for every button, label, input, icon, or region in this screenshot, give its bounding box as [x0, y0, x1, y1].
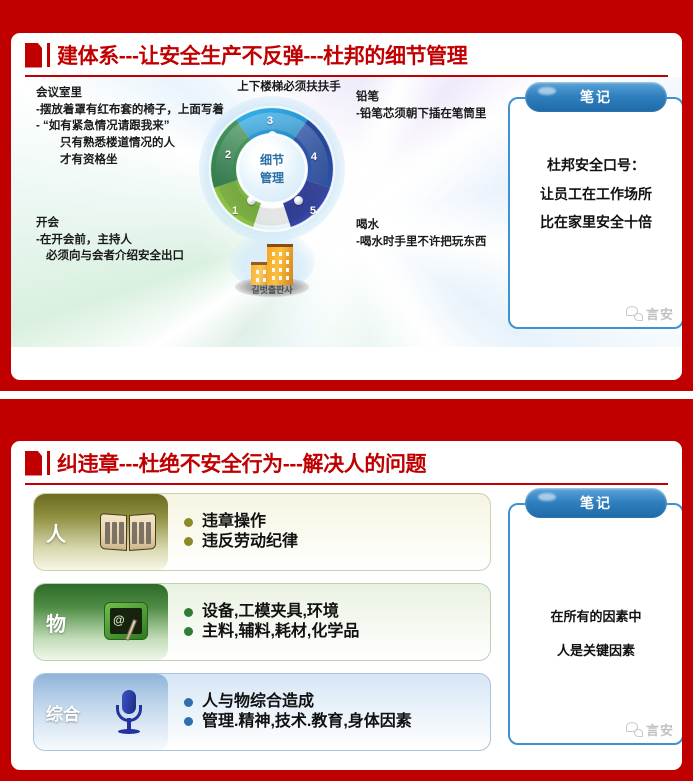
notes-line-3: 比在家里安全十倍	[510, 208, 682, 237]
bullet-item: 主料,辅料,耗材,化学品	[184, 622, 359, 642]
caption-stairs: 上下楼梯必须扶扶手	[219, 79, 359, 96]
bullet-dot-icon	[184, 627, 193, 636]
title-divider-bar	[47, 43, 50, 67]
line-pencil-1: -铅笔芯须朝下插在笔筒里	[356, 106, 516, 123]
notes-line-2: 人是关键因素	[510, 634, 682, 668]
notes-line-1: 杜邦安全口号：	[510, 151, 682, 180]
building-window	[263, 278, 266, 282]
building-window	[272, 260, 275, 264]
bullet-text: 设备,工模夹具,环境	[202, 602, 339, 622]
donut-diagram: 1 2 3 4 5 细节 管理	[208, 105, 336, 233]
bullet-text: 主料,辅料,耗材,化学品	[202, 622, 359, 642]
building-window	[279, 268, 282, 272]
building-window	[279, 276, 282, 280]
pearl-marker-icon	[294, 196, 303, 205]
bullet-item: 违章操作	[184, 512, 298, 532]
donut-center-hub: 细节 管理	[238, 135, 306, 203]
title-divider-bar	[47, 451, 50, 475]
notes-card-header-label: 笔记	[580, 493, 612, 513]
slide-1-title-row: 建体系---让安全生产不反弹---杜邦的细节管理	[11, 33, 682, 73]
building-window	[286, 268, 289, 272]
notes-card-header-label: 笔记	[580, 87, 612, 107]
donut-segment-number-4: 4	[311, 151, 317, 163]
slide-2-title: 纠违章---杜绝不安全行为---解决人的问题	[57, 448, 426, 478]
watermark-slide-2: 言安	[626, 720, 674, 739]
notes-card-body: 在所有的因素中 人是关键因素	[510, 600, 682, 668]
donut-segment-number-1: 1	[232, 205, 238, 217]
building-window	[272, 276, 275, 280]
building-label: 길벗출판사	[229, 283, 315, 296]
watermark-label: 言安	[646, 304, 674, 323]
text-block-drinking-water: 喝水 -喝水时手里不许把玩东西	[356, 217, 526, 250]
donut-segment-number-2: 2	[225, 149, 231, 161]
factor-bullets-material: 设备,工模夹具,环境 主料,辅料,耗材,化学品	[168, 602, 359, 642]
bullet-dot-icon	[184, 518, 193, 527]
red-page-icon	[25, 43, 42, 68]
building-window	[286, 260, 289, 264]
building-window	[272, 252, 275, 256]
bullet-item: 违反劳动纪律	[184, 532, 298, 552]
bullet-dot-icon	[184, 537, 193, 546]
factor-bullets-combined: 人与物综合造成 管理.精神,技术.教育,身体因素	[168, 692, 412, 732]
bullet-text: 管理.精神,技术.教育,身体因素	[202, 712, 412, 732]
bullet-text: 违反劳动纪律	[202, 532, 298, 552]
poster-page: 建体系---让安全生产不反弹---杜邦的细节管理 会议室里 -摆放着罩有红布套的…	[0, 0, 693, 781]
slide-1-title-rule	[25, 75, 668, 77]
notes-line-1: 在所有的因素中	[510, 600, 682, 634]
heading-water: 喝水	[356, 217, 526, 234]
heading-pencil: 铅笔	[356, 89, 516, 106]
wechat-icon	[626, 722, 643, 737]
open-book-icon	[98, 506, 158, 558]
building-window	[279, 260, 282, 264]
slide-2-title-row: 纠违章---杜绝不安全行为---解决人的问题	[11, 441, 682, 481]
factor-row-material[interactable]: 物 @ 设备	[33, 583, 491, 661]
factor-tag-label: 综合	[46, 700, 98, 725]
line-water-1: -喝水时手里不许把玩东西	[356, 234, 526, 251]
building-window	[256, 278, 259, 282]
notes-card-slide-2: 笔记 在所有的因素中 人是关键因素 言安	[508, 503, 682, 745]
bullet-item: 设备,工模夹具,环境	[184, 602, 359, 622]
building-window	[286, 252, 289, 256]
slide-2-inner: 纠违章---杜绝不安全行为---解决人的问题 人	[11, 441, 682, 770]
building-window	[286, 276, 289, 280]
red-page-icon	[25, 451, 42, 476]
watermark-slide-1: 言安	[626, 304, 674, 323]
slide-1-body: 会议室里 -摆放着罩有红布套的椅子，上面写着 - “如有紧急情况请跟我来” 只有…	[11, 77, 682, 347]
building-graphic: 길벗출판사	[229, 239, 315, 305]
factor-tag-material: 物 @	[34, 584, 168, 660]
microphone-icon	[98, 686, 158, 738]
slide-separator	[0, 391, 693, 399]
building-window	[272, 268, 275, 272]
factor-tag-combined: 综合	[34, 674, 168, 750]
line-kaihui-1: -在开会前，主持人	[36, 232, 251, 249]
donut-center-line-1: 细节	[260, 151, 284, 169]
line-kaihui-2: 必须向与会者介绍安全出口	[36, 248, 251, 265]
slide-2-body: 人	[11, 485, 682, 767]
factor-tag-person: 人	[34, 494, 168, 570]
slide-2: 纠违章---杜绝不安全行为---解决人的问题 人	[0, 399, 693, 781]
donut-center-line-2: 管理	[260, 169, 284, 187]
slide-1-title: 建体系---让安全生产不反弹---杜邦的细节管理	[57, 40, 467, 70]
text-block-pencil: 铅笔 -铅笔芯须朝下插在笔筒里	[356, 89, 516, 122]
building-window	[256, 270, 259, 274]
factor-row-person[interactable]: 人	[33, 493, 491, 571]
chalkboard-icon: @	[98, 596, 158, 648]
slide-2-title-rule	[25, 483, 668, 485]
bullet-dot-icon	[184, 717, 193, 726]
bullet-dot-icon	[184, 698, 193, 707]
wechat-icon	[626, 306, 643, 321]
factor-row-combined[interactable]: 综合	[33, 673, 491, 751]
notes-card-body: 杜邦安全口号： 让员工在工作场所 比在家里安全十倍	[510, 151, 682, 237]
factor-bullets-person: 违章操作 违反劳动纪律	[168, 512, 298, 552]
bullet-item: 管理.精神,技术.教育,身体因素	[184, 712, 412, 732]
notes-line-2: 让员工在工作场所	[510, 180, 682, 209]
building-window	[279, 252, 282, 256]
text-block-stairs: 上下楼梯必须扶扶手	[219, 79, 359, 96]
notes-card-header: 笔记	[525, 82, 667, 112]
notes-card-header: 笔记	[525, 488, 667, 518]
bullet-text: 违章操作	[202, 512, 266, 532]
donut-segment-number-5: 5	[310, 205, 316, 217]
factor-rows: 人	[33, 493, 491, 763]
donut-segment-number-3: 3	[267, 115, 273, 127]
bullet-dot-icon	[184, 608, 193, 617]
slide-1-inner: 建体系---让安全生产不反弹---杜邦的细节管理 会议室里 -摆放着罩有红布套的…	[11, 33, 682, 380]
building-window	[263, 270, 266, 274]
watermark-label: 言安	[646, 720, 674, 739]
slide-1: 建体系---让安全生产不反弹---杜邦的细节管理 会议室里 -摆放着罩有红布套的…	[0, 0, 693, 391]
factor-tag-label: 人	[46, 518, 98, 547]
bullet-item: 人与物综合造成	[184, 692, 412, 712]
notes-card-slide-1: 笔记 杜邦安全口号： 让员工在工作场所 比在家里安全十倍 言安	[508, 97, 682, 329]
factor-tag-label: 物	[46, 608, 98, 637]
bullet-text: 人与物综合造成	[202, 692, 314, 712]
